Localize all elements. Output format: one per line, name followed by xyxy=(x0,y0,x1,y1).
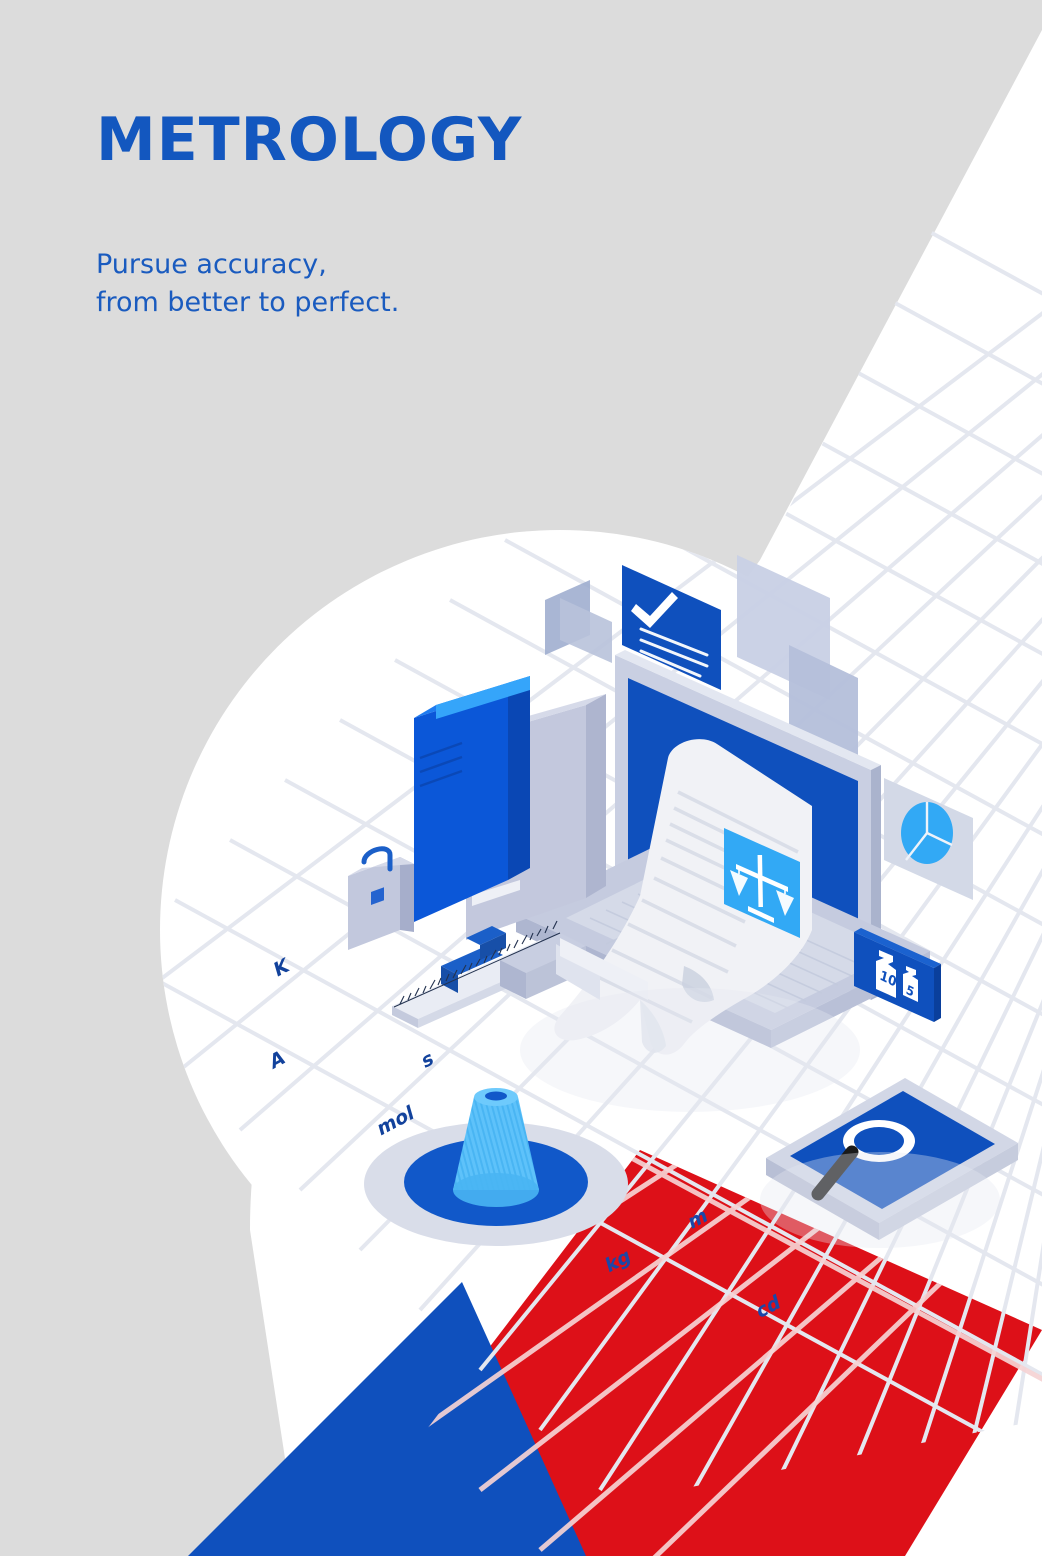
pie-chart-card xyxy=(884,778,973,900)
poster-canvas: METROLOGY Pursue accuracy, from better t… xyxy=(0,0,1042,1556)
headline-block: METROLOGY Pursue accuracy, from better t… xyxy=(96,110,522,323)
pie-chart-icon xyxy=(901,802,953,864)
page-title: METROLOGY xyxy=(96,110,522,170)
page-tagline: Pursue accuracy, from better to perfect. xyxy=(96,246,522,323)
